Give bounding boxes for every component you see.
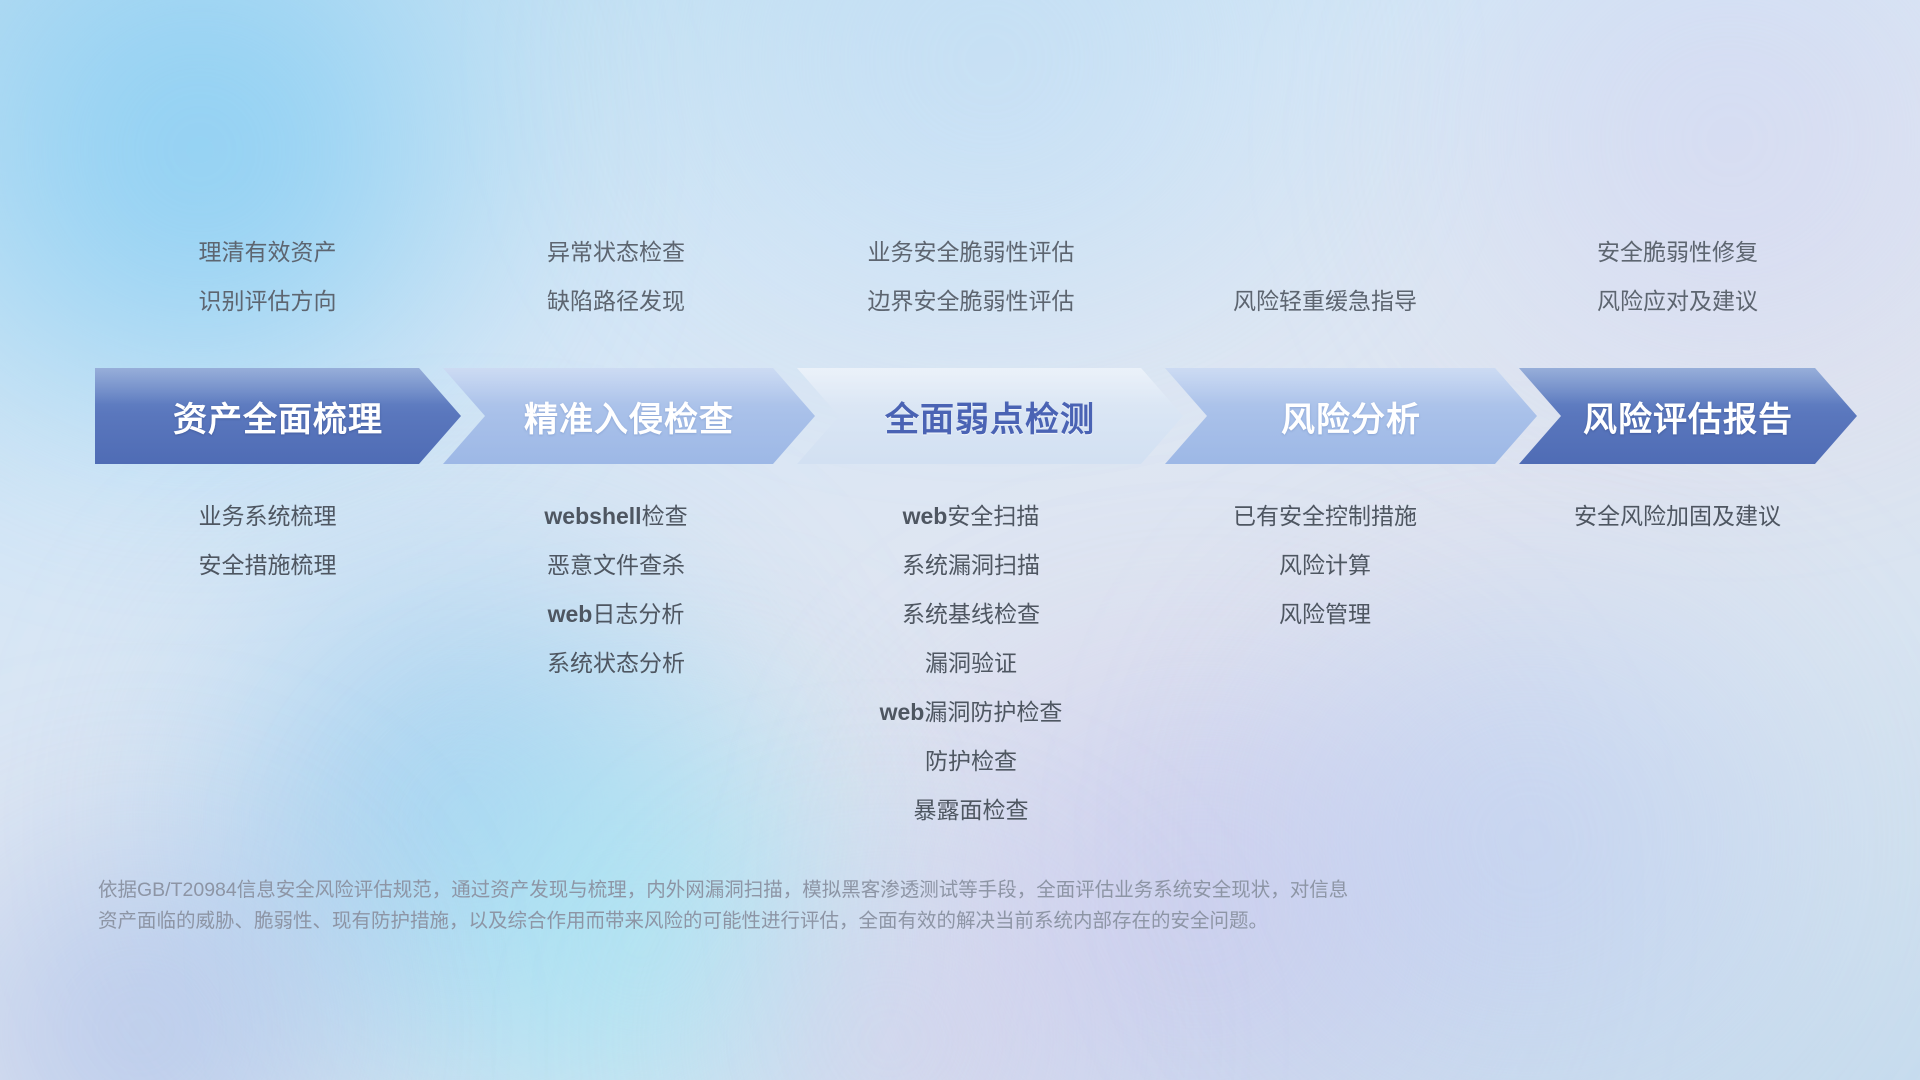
- process-chevron-band: 资产全面梳理 精准入侵检查 全面弱点检测 风险分析 风险评估报告: [95, 368, 1857, 464]
- task-item: web日志分析: [548, 590, 685, 639]
- footer-line-2: 资产面临的威胁、脆弱性、现有防护措施，以及综合作用而带来风险的可能性进行评估，全…: [98, 906, 1618, 937]
- stage-3-outcomes: 业务安全脆弱性评估 边界安全脆弱性评估: [792, 228, 1150, 358]
- task-item: web漏洞防护检查: [880, 688, 1063, 737]
- stage-1-tasks: 业务系统梳理 安全措施梳理: [95, 492, 440, 835]
- stage-4-tasks: 已有安全控制措施 风险计算 风险管理: [1150, 492, 1500, 835]
- stage-outcomes-row: 理清有效资产 识别评估方向 异常状态检查 缺陷路径发现 业务安全脆弱性评估 边界…: [95, 228, 1855, 358]
- task-rest: 业务系统梳理: [199, 503, 337, 529]
- chevron-label: 风险分析: [1281, 392, 1421, 441]
- task-rest: 风险计算: [1279, 552, 1371, 578]
- chevron-stage-5[interactable]: 风险评估报告: [1519, 368, 1857, 464]
- chevron-label: 风险评估报告: [1583, 392, 1793, 441]
- task-item: webshell检查: [544, 492, 687, 541]
- stage-5-tasks: 安全风险加固及建议: [1500, 492, 1855, 835]
- task-item: 风险管理: [1279, 590, 1371, 639]
- stage-2-tasks: webshell检查 恶意文件查杀 web日志分析 系统状态分析: [440, 492, 792, 835]
- task-rest: 暴露面检查: [914, 797, 1029, 823]
- outcome-text: 识别评估方向: [199, 277, 337, 326]
- chevron-label: 全面弱点检测: [885, 392, 1095, 441]
- task-item: 风险计算: [1279, 541, 1371, 590]
- footer-line-1: 依据GB/T20984信息安全风险评估规范，通过资产发现与梳理，内外网漏洞扫描，…: [98, 875, 1618, 906]
- task-item: 安全措施梳理: [199, 541, 337, 590]
- task-rest: 日志分析: [592, 601, 684, 627]
- outcome-text: 风险轻重缓急指导: [1233, 277, 1417, 326]
- task-item: 恶意文件查杀: [547, 541, 685, 590]
- task-item: 系统基线检查: [902, 590, 1040, 639]
- task-lead: web: [880, 699, 925, 725]
- task-rest: 漏洞防护检查: [924, 699, 1062, 725]
- task-rest: 防护检查: [925, 748, 1017, 774]
- task-rest: 系统漏洞扫描: [902, 552, 1040, 578]
- outcome-text: 业务安全脆弱性评估: [868, 228, 1075, 277]
- task-item: 已有安全控制措施: [1233, 492, 1417, 541]
- chevron-stage-1[interactable]: 资产全面梳理: [95, 368, 461, 464]
- task-lead: webshell: [544, 503, 641, 529]
- task-item: web安全扫描: [903, 492, 1040, 541]
- chevron-label: 资产全面梳理: [173, 392, 383, 441]
- task-item: 业务系统梳理: [199, 492, 337, 541]
- process-diagram: 理清有效资产 识别评估方向 异常状态检查 缺陷路径发现 业务安全脆弱性评估 边界…: [0, 0, 1920, 1080]
- chevron-label: 精准入侵检查: [524, 392, 734, 441]
- task-rest: 安全措施梳理: [199, 552, 337, 578]
- task-item: 系统状态分析: [547, 639, 685, 688]
- task-rest: 风险管理: [1279, 601, 1371, 627]
- task-rest: 安全扫描: [947, 503, 1039, 529]
- stage-4-outcomes: 风险轻重缓急指导: [1150, 228, 1500, 358]
- task-rest: 已有安全控制措施: [1233, 503, 1417, 529]
- stage-5-outcomes: 安全脆弱性修复 风险应对及建议: [1500, 228, 1855, 358]
- chevron-stage-4[interactable]: 风险分析: [1165, 368, 1537, 464]
- stage-task-lists: 业务系统梳理 安全措施梳理 webshell检查 恶意文件查杀 web日志分析 …: [95, 492, 1857, 835]
- chevron-stage-2[interactable]: 精准入侵检查: [443, 368, 815, 464]
- outcome-text: 缺陷路径发现: [547, 277, 685, 326]
- outcome-text: 理清有效资产: [199, 228, 337, 277]
- task-rest: 漏洞验证: [925, 650, 1017, 676]
- task-item: 系统漏洞扫描: [902, 541, 1040, 590]
- outcome-text: 边界安全脆弱性评估: [868, 277, 1075, 326]
- outcome-text: 风险应对及建议: [1597, 277, 1758, 326]
- task-rest: 系统状态分析: [547, 650, 685, 676]
- stage-2-outcomes: 异常状态检查 缺陷路径发现: [440, 228, 792, 358]
- task-rest: 安全风险加固及建议: [1574, 503, 1781, 529]
- task-rest: 恶意文件查杀: [547, 552, 685, 578]
- task-item: 暴露面检查: [914, 786, 1029, 835]
- task-rest: 系统基线检查: [902, 601, 1040, 627]
- task-item: 安全风险加固及建议: [1574, 492, 1781, 541]
- task-lead: web: [548, 601, 593, 627]
- task-rest: 检查: [642, 503, 688, 529]
- task-item: 防护检查: [925, 737, 1017, 786]
- task-lead: web: [903, 503, 948, 529]
- chevron-stage-3[interactable]: 全面弱点检测: [797, 368, 1183, 464]
- outcome-text: 异常状态检查: [547, 228, 685, 277]
- outcome-text: 安全脆弱性修复: [1597, 228, 1758, 277]
- task-item: 漏洞验证: [925, 639, 1017, 688]
- stage-1-outcomes: 理清有效资产 识别评估方向: [95, 228, 440, 358]
- stage-3-tasks: web安全扫描 系统漏洞扫描 系统基线检查 漏洞验证 web漏洞防护检查 防护检…: [792, 492, 1150, 835]
- footer-description: 依据GB/T20984信息安全风险评估规范，通过资产发现与梳理，内外网漏洞扫描，…: [98, 875, 1618, 937]
